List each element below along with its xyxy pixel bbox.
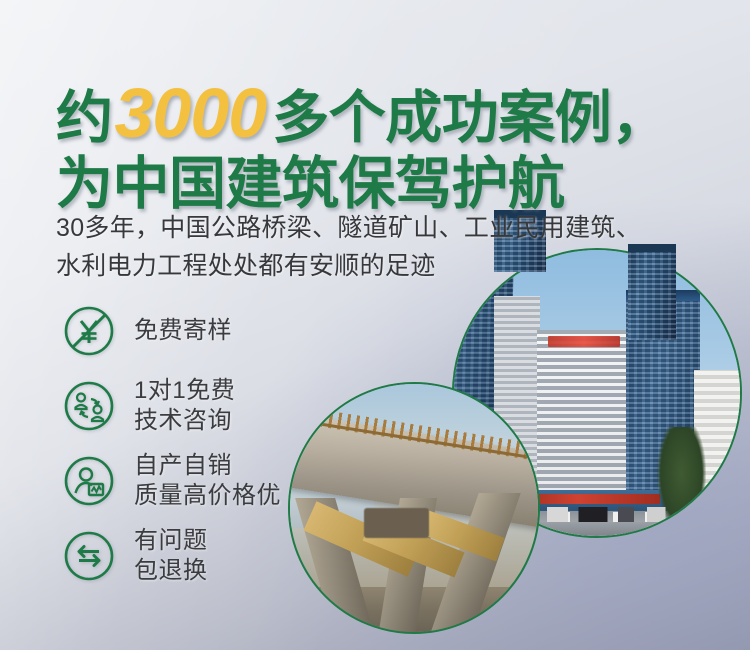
- feature-line: 质量高价格优: [134, 481, 281, 511]
- feature-line: 包退换: [134, 556, 208, 586]
- free-sample-icon: [58, 300, 120, 362]
- headline-prefix: 约: [56, 86, 113, 150]
- feature-line: 自产自销: [134, 451, 281, 481]
- headline-line-2: 为中国建筑保驾护航: [56, 156, 668, 213]
- feature-label: 有问题 包退换: [134, 526, 208, 586]
- headline-number: 3000: [113, 74, 273, 152]
- promo-banner: 约3000多个成功案例， 为中国建筑保驾护航 30多年，中国公路桥梁、隧道矿山、…: [0, 0, 750, 650]
- feature-item-return-exchange: 有问题 包退换: [58, 525, 281, 587]
- return-exchange-icon: [58, 525, 120, 587]
- headline: 约3000多个成功案例， 为中国建筑保驾护航: [56, 78, 668, 213]
- feature-label: 自产自销 质量高价格优: [134, 451, 281, 511]
- feature-item-consult: 1对1免费 技术咨询: [58, 375, 281, 437]
- feature-line: 免费寄样: [134, 316, 232, 346]
- feature-item-self-produced: 自产自销 质量高价格优: [58, 450, 281, 512]
- feature-label: 1对1免费 技术咨询: [134, 376, 235, 436]
- feature-label: 免费寄样: [134, 316, 232, 346]
- self-produced-sales-icon: [58, 450, 120, 512]
- subtitle: 30多年，中国公路桥梁、隧道矿山、工业民用建筑、 水利电力工程处处都有安顺的足迹: [56, 210, 641, 285]
- feature-line: 有问题: [134, 526, 208, 556]
- subtitle-line-1: 30多年，中国公路桥梁、隧道矿山、工业民用建筑、: [56, 210, 641, 248]
- feature-line: 技术咨询: [134, 406, 235, 436]
- feature-line: 1对1免费: [134, 376, 235, 406]
- one-on-one-consult-icon: [58, 375, 120, 437]
- subtitle-line-2: 水利电力工程处处都有安顺的足迹: [56, 248, 641, 286]
- banner-content: 约3000多个成功案例， 为中国建筑保驾护航 30多年，中国公路桥梁、隧道矿山、…: [0, 0, 750, 650]
- headline-suffix: 多个成功案例，: [272, 86, 668, 150]
- feature-list: 免费寄样: [58, 300, 281, 600]
- headline-line-1: 约3000多个成功案例，: [56, 78, 668, 148]
- feature-item-free-sample: 免费寄样: [58, 300, 281, 362]
